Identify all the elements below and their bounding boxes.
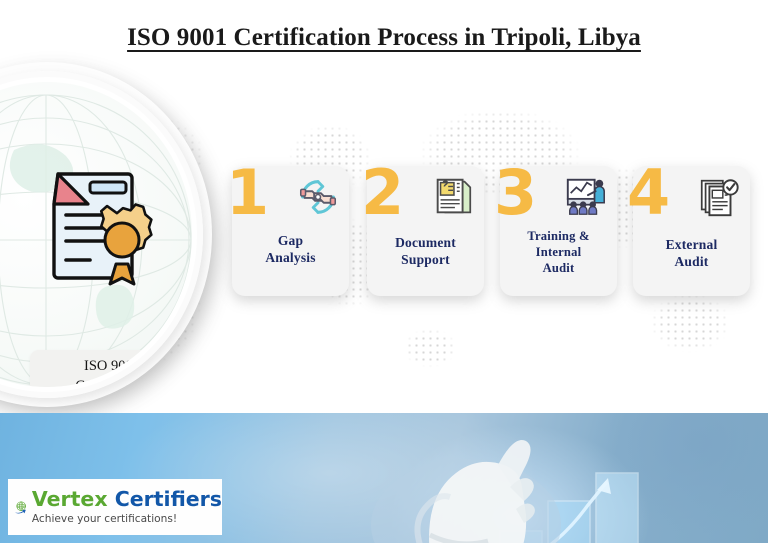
step-label-4: External Audit bbox=[633, 236, 750, 271]
badge-face: ISO 9001 Certification bbox=[0, 82, 192, 387]
logo-name: Vertex Certifiers bbox=[32, 489, 222, 510]
iso-certification-badge: ISO 9001 Certification bbox=[0, 62, 212, 407]
badge-label-line1: ISO 9001 bbox=[36, 357, 188, 377]
step-label-2: Document Support bbox=[367, 234, 484, 269]
step-number-3: 3 bbox=[494, 162, 535, 224]
document-clipboard-icon bbox=[430, 173, 476, 221]
step-card-4[interactable]: 4 External Audit bbox=[633, 166, 750, 296]
step-card-2-top: 2 bbox=[367, 166, 484, 226]
step-label-1-line1: Gap bbox=[232, 232, 349, 249]
step-card-4-top: 4 bbox=[633, 166, 750, 226]
step-number-1: 1 bbox=[226, 162, 267, 224]
step-label-3-line3: Audit bbox=[500, 260, 617, 276]
logo-name-part2: Certifiers bbox=[115, 487, 222, 511]
process-steps: 1 Gap Analysis bbox=[232, 166, 768, 302]
step-card-3[interactable]: 3 bbox=[500, 166, 617, 296]
step-number-4: 4 bbox=[627, 162, 668, 224]
training-presentation-icon bbox=[563, 173, 609, 221]
globe-arrow-logo-icon bbox=[14, 483, 29, 531]
step-label-3-line2: Internal bbox=[500, 244, 617, 260]
step-card-3-top: 3 bbox=[500, 166, 617, 226]
step-card-1[interactable]: 1 Gap Analysis bbox=[232, 166, 349, 296]
gloved-hand-photo bbox=[370, 413, 620, 543]
step-label-3: Training & Internal Audit bbox=[500, 228, 617, 276]
certificate-document-icon bbox=[42, 160, 162, 290]
step-card-2[interactable]: 2 Document Support bbox=[367, 166, 484, 296]
brand-logo[interactable]: Vertex Certifiers Achieve your certifica… bbox=[8, 479, 222, 535]
badge-label: ISO 9001 Certification bbox=[30, 350, 192, 387]
logo-tagline: Achieve your certifications! bbox=[32, 513, 222, 525]
handshake-puzzle-icon bbox=[295, 173, 341, 221]
step-label-2-line2: Support bbox=[367, 251, 484, 268]
step-card-1-top: 1 bbox=[232, 166, 349, 226]
step-label-1-line2: Analysis bbox=[232, 249, 349, 266]
badge-label-line2: Certification bbox=[36, 377, 188, 387]
logo-text: Vertex Certifiers Achieve your certifica… bbox=[32, 489, 222, 526]
step-label-1: Gap Analysis bbox=[232, 232, 349, 267]
step-label-3-line1: Training & bbox=[500, 228, 617, 244]
step-number-2: 2 bbox=[361, 162, 402, 224]
poster-canvas: ISO 9001 Certification Process in Tripol… bbox=[0, 0, 768, 543]
step-label-4-line1: External bbox=[633, 236, 750, 253]
logo-name-part1: Vertex bbox=[32, 487, 108, 511]
page-title: ISO 9001 Certification Process in Tripol… bbox=[0, 24, 768, 52]
step-label-4-line2: Audit bbox=[633, 253, 750, 270]
documents-check-icon bbox=[696, 173, 742, 221]
step-label-2-line1: Document bbox=[367, 234, 484, 251]
